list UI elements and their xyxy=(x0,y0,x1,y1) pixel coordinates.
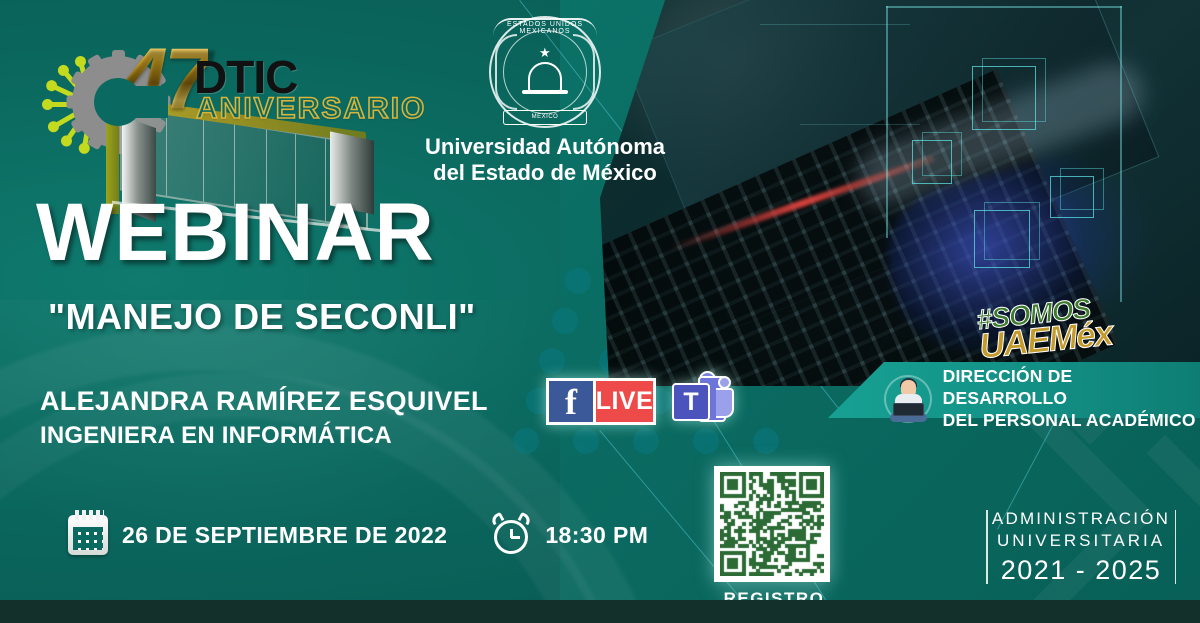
crest-bell-icon xyxy=(528,62,562,92)
hud-cube-2 xyxy=(912,140,952,184)
department-block: DIRECCIÓN DE DESARROLLO DEL PERSONAL ACA… xyxy=(884,366,1200,432)
teams-body-small xyxy=(716,388,734,418)
footer-bar xyxy=(0,600,1200,623)
webinar-subtitle: "MANEJO DE SECONLI" xyxy=(48,296,476,338)
hud-line-3 xyxy=(1120,6,1122,302)
registration-block[interactable]: REGISTRO xyxy=(714,466,834,609)
page-title: WEBINAR xyxy=(36,192,435,274)
administration-block: ADMINISTRACIÓN UNIVERSITARIA 2021 - 2025 xyxy=(986,508,1176,586)
hud-line-5 xyxy=(800,124,920,125)
facebook-live-badge[interactable]: f LIVE xyxy=(546,378,656,425)
event-datetime: 26 DE SEPTIEMBRE DE 2022 18:30 PM xyxy=(68,515,648,555)
hud-cube-4 xyxy=(974,210,1030,268)
crest-top-text: ESTADOS UNIDOS MEXICANOS xyxy=(489,21,601,35)
university-block: ESTADOS UNIDOS MEXICANOS ★ MEXICO Univer… xyxy=(412,16,678,194)
aniversario-label: ANIVERSARIO xyxy=(196,92,426,126)
teams-letter: T xyxy=(672,383,710,421)
university-name-line1: Universidad Autónoma xyxy=(412,134,678,160)
hud-line-4 xyxy=(760,24,910,25)
admin-divider-right xyxy=(1175,510,1177,584)
qr-code[interactable] xyxy=(714,466,830,582)
department-line2: DEL PERSONAL ACADÉMICO xyxy=(943,410,1200,432)
webinar-poster: 47 DTIC ANIVERSARIO ESTADOS UNIDOS MEXIC… xyxy=(0,0,1200,623)
alarm-clock-icon xyxy=(491,515,531,555)
speaker-role: INGENIERA EN INFORMÁTICA xyxy=(40,422,392,450)
crest-star-icon: ★ xyxy=(539,46,551,59)
calendar-grid xyxy=(73,527,103,550)
calendar-icon xyxy=(68,515,108,555)
facebook-icon: f xyxy=(546,378,593,425)
hud-cube-1 xyxy=(972,66,1036,130)
crest-left-laurel xyxy=(495,34,517,110)
hud-line-2 xyxy=(886,6,1122,8)
crest-bell-base xyxy=(522,90,568,94)
person-laptop xyxy=(893,403,924,416)
event-time: 18:30 PM xyxy=(545,522,648,549)
crest-ribbon: MEXICO xyxy=(503,110,587,125)
event-date: 26 DE SEPTIEMBRE DE 2022 xyxy=(122,522,447,549)
hud-line-1 xyxy=(886,6,888,238)
calendar-rings xyxy=(72,510,104,520)
hud-cube-3 xyxy=(1050,176,1094,218)
person-with-laptop-icon xyxy=(884,375,932,423)
admin-line2: UNIVERSITARIA xyxy=(986,530,1176,552)
admin-years: 2021 - 2025 xyxy=(986,555,1176,586)
logo-gear-notch xyxy=(134,86,168,118)
speaker-name: ALEJANDRA RAMÍREZ ESQUIVEL xyxy=(40,386,488,417)
university-name: Universidad Autónoma del Estado de Méxic… xyxy=(412,134,678,186)
microsoft-teams-icon[interactable]: T xyxy=(672,374,736,430)
admin-divider-left xyxy=(986,510,988,584)
admin-line1: ADMINISTRACIÓN xyxy=(986,508,1176,530)
facebook-live-label: LIVE xyxy=(593,378,656,425)
crest-right-laurel xyxy=(573,34,595,110)
uaem-crest-icon: ESTADOS UNIDOS MEXICANOS ★ MEXICO xyxy=(489,16,601,128)
clock-minute-hand xyxy=(511,536,520,539)
department-line1: DIRECCIÓN DE DESARROLLO xyxy=(943,366,1200,410)
department-name: DIRECCIÓN DE DESARROLLO DEL PERSONAL ACA… xyxy=(943,366,1200,432)
university-name-line2: del Estado de México xyxy=(412,160,678,186)
anniversary-logo: 47 DTIC ANIVERSARIO xyxy=(14,14,394,204)
